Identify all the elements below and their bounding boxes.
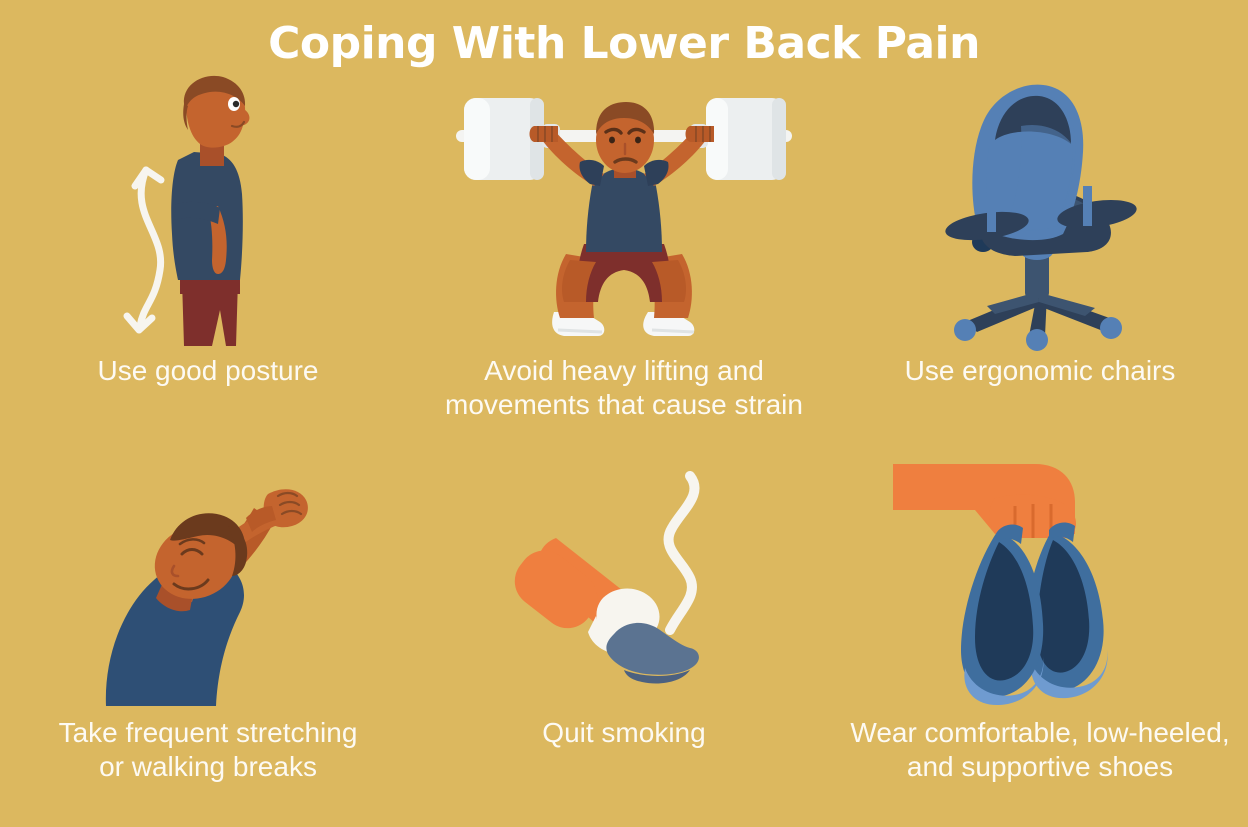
tip-card-supportive-shoes: Wear comfortable, low-heeled, and suppor… [832, 448, 1248, 822]
caption-line: Use ergonomic chairs [905, 355, 1176, 386]
caption-line: Use good posture [97, 355, 318, 386]
tip-caption-posture: Use good posture [91, 354, 324, 388]
tip-card-ergonomic-chair: Use ergonomic chairs [832, 74, 1248, 448]
tip-caption-ergonomic-chair: Use ergonomic chairs [899, 354, 1182, 388]
person-stretching-icon [0, 448, 416, 706]
cigarette-smoke-icon [416, 448, 832, 706]
tip-card-heavy-lifting: Avoid heavy lifting and movements that c… [416, 74, 832, 448]
page-title: Coping With Lower Back Pain [0, 0, 1248, 66]
caption-line: Wear comfortable, low-heeled, [850, 717, 1229, 748]
caption-line: Take frequent stretching [59, 717, 358, 748]
tips-grid: Use good posture [0, 66, 1248, 827]
caption-line: and supportive shoes [907, 751, 1173, 782]
tip-caption-stretching: Take frequent stretching or walking brea… [53, 716, 364, 784]
tip-caption-heavy-lifting: Avoid heavy lifting and movements that c… [439, 354, 809, 422]
caption-line: Quit smoking [542, 717, 705, 748]
infographic-root: Coping With Lower Back Pain [0, 0, 1248, 827]
standing-person-posture-icon [0, 74, 416, 346]
tip-card-posture: Use good posture [0, 74, 416, 448]
weightlifter-barbell-icon [416, 74, 832, 346]
tip-card-quit-smoking: Quit smoking [416, 448, 832, 822]
caption-line: movements that cause strain [445, 389, 803, 420]
tip-caption-supportive-shoes: Wear comfortable, low-heeled, and suppor… [844, 716, 1235, 784]
hand-holding-shoes-icon [832, 448, 1248, 706]
tip-card-stretching: Take frequent stretching or walking brea… [0, 448, 416, 822]
tip-caption-quit-smoking: Quit smoking [536, 716, 711, 750]
caption-line: or walking breaks [99, 751, 317, 782]
office-chair-icon [832, 74, 1248, 346]
caption-line: Avoid heavy lifting and [484, 355, 764, 386]
